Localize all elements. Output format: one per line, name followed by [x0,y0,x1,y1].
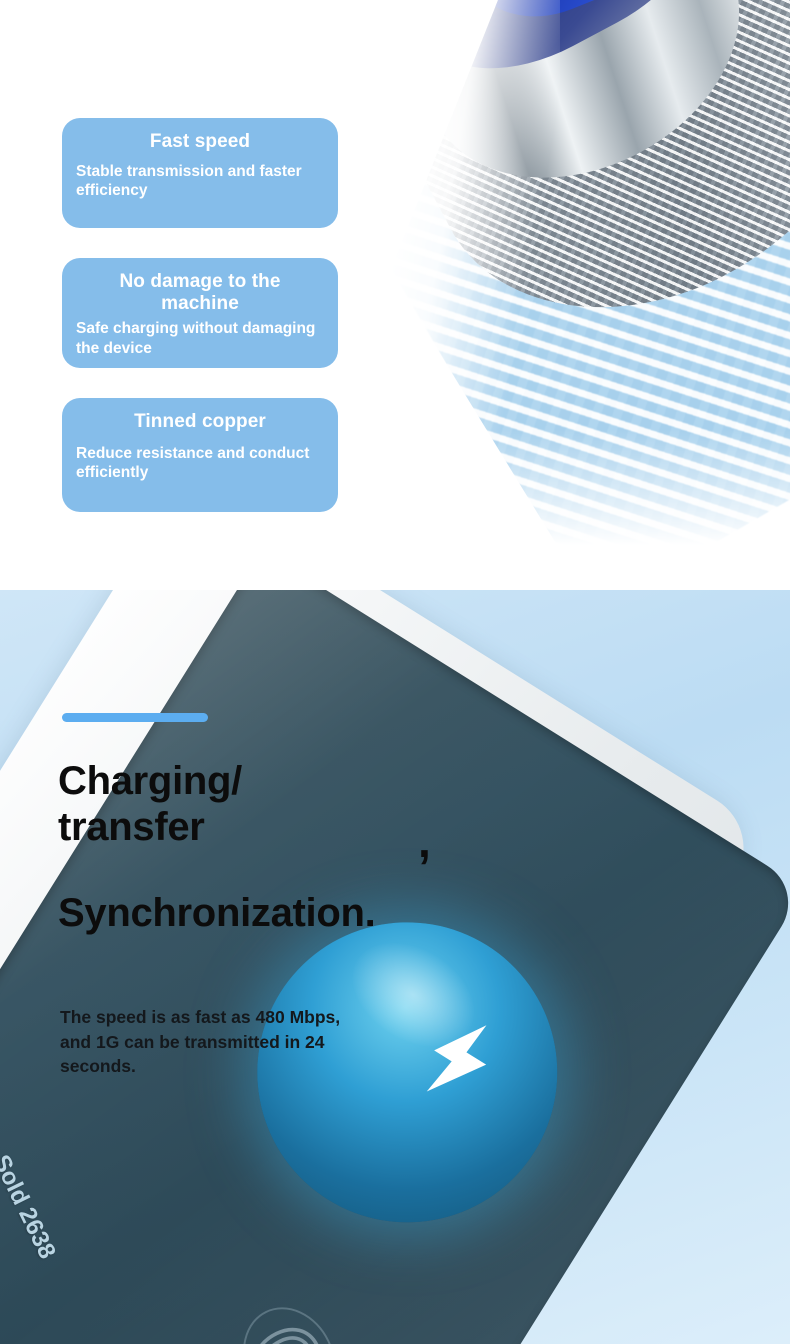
headline-primary: Charging/ transfer [58,758,478,851]
accent-bar [62,713,208,722]
feature-card-tinned-copper: Tinned copper Reduce resistance and cond… [62,398,338,512]
cable-macro-photo [330,0,790,550]
feature-card-title: No damage to the machine [76,271,324,314]
feature-card-description: Stable transmission and faster efficienc… [76,162,324,201]
features-section: Fast speed Stable transmission and faste… [0,0,790,590]
charging-sync-section: Sold 2638 Iceberg Charging/ transfer , S… [0,590,790,1344]
feature-card-title: Fast speed [76,131,324,153]
headline-line-3: Synchronization. [58,890,518,936]
headline-line-1: Charging/ [58,759,242,803]
feature-card-no-damage: No damage to the machine Safe charging w… [62,258,338,368]
feature-card-fast-speed: Fast speed Stable transmission and faste… [62,118,338,228]
feature-card-title: Tinned copper [76,411,324,433]
headline-line-2: transfer [58,805,205,849]
feature-card-description: Reduce resistance and conduct efficientl… [76,444,324,483]
product-detail-page: Fast speed Stable transmission and faste… [0,0,790,1344]
feature-card-description: Safe charging without damaging the devic… [76,319,324,358]
body-copy: The speed is as fast as 480 Mbps, and 1G… [60,1005,360,1079]
headline-comma: , [418,818,431,864]
cable-photo-clip [330,0,790,550]
